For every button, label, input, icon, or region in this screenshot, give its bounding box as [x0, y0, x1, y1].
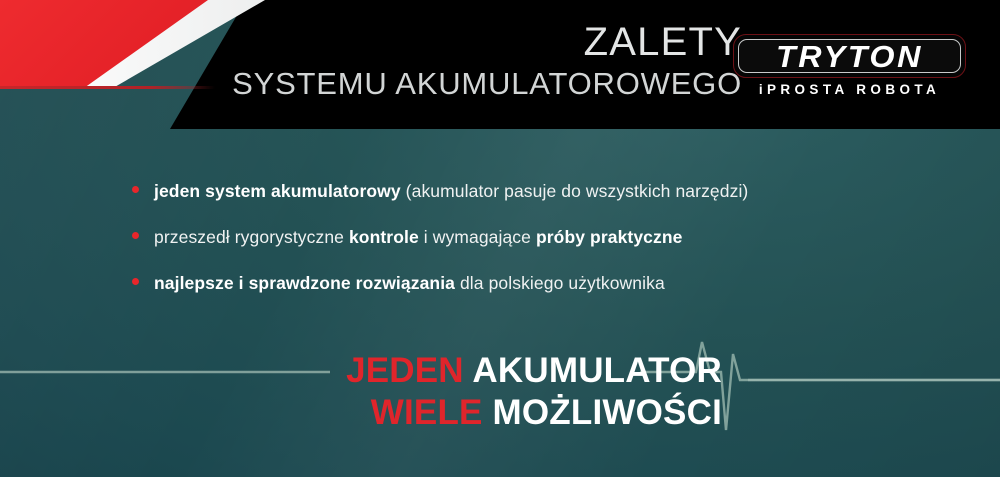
bullet-dot-icon [132, 186, 139, 193]
list-item-bold: jeden system akumulatorowy [154, 181, 401, 201]
slogan-line-1: JEDEN AKUMULATOR [0, 352, 722, 390]
logo-brand-wordmark: TRYTON [728, 39, 970, 75]
list-item-text: przeszedł rygorystyczne kontrole i wymag… [154, 226, 682, 249]
list-item-text: jeden system akumulatorowy (akumulator p… [154, 180, 748, 203]
list-item: przeszedł rygorystyczne kontrole i wymag… [132, 226, 952, 249]
title-subtitle: SYSTEMU AKUMULATOROWEGO [232, 68, 742, 100]
tryton-logo: TRYTON iPROSTA ROBOTA [733, 30, 966, 104]
slide-canvas: ZALETY SYSTEMU AKUMULATOROWEGO TRYTON iP… [0, 0, 1000, 477]
list-item-rest: dla polskiego użytkownika [455, 273, 665, 293]
list-item-bold-mid: kontrole [349, 227, 419, 247]
corner-flag-red-edge [0, 86, 215, 89]
slogan-line1-plain: AKUMULATOR [472, 351, 722, 390]
list-item: najlepsze i sprawdzone rozwiązania dla p… [132, 272, 952, 295]
slogan-line2-plain: MOŻLIWOŚCI [493, 393, 722, 432]
list-item-mid: i wymagające [419, 227, 536, 247]
bullet-dot-icon [132, 232, 139, 239]
list-item-text: najlepsze i sprawdzone rozwiązania dla p… [154, 272, 665, 295]
bullet-dot-icon [132, 278, 139, 285]
slogan-line-2: WIELE MOŻLIWOŚCI [0, 394, 722, 432]
slogan-line2-accent: WIELE [371, 393, 483, 432]
list-item-lead: przeszedł rygorystyczne [154, 227, 349, 247]
list-item: jeden system akumulatorowy (akumulator p… [132, 180, 952, 203]
list-item-rest: (akumulator pasuje do wszystkich narzędz… [401, 181, 749, 201]
slogan-block: JEDEN AKUMULATOR WIELE MOŻLIWOŚCI [0, 352, 722, 432]
benefits-list: jeden system akumulatorowy (akumulator p… [132, 180, 952, 317]
slogan-line1-accent: JEDEN [346, 351, 464, 390]
title-main: ZALETY [232, 22, 742, 64]
list-item-bold: najlepsze i sprawdzone rozwiązania [154, 273, 455, 293]
logo-tagline: iPROSTA ROBOTA [733, 82, 966, 97]
list-item-bold-tail: próby praktyczne [536, 227, 683, 247]
page-title: ZALETY SYSTEMU AKUMULATOROWEGO [232, 22, 742, 100]
